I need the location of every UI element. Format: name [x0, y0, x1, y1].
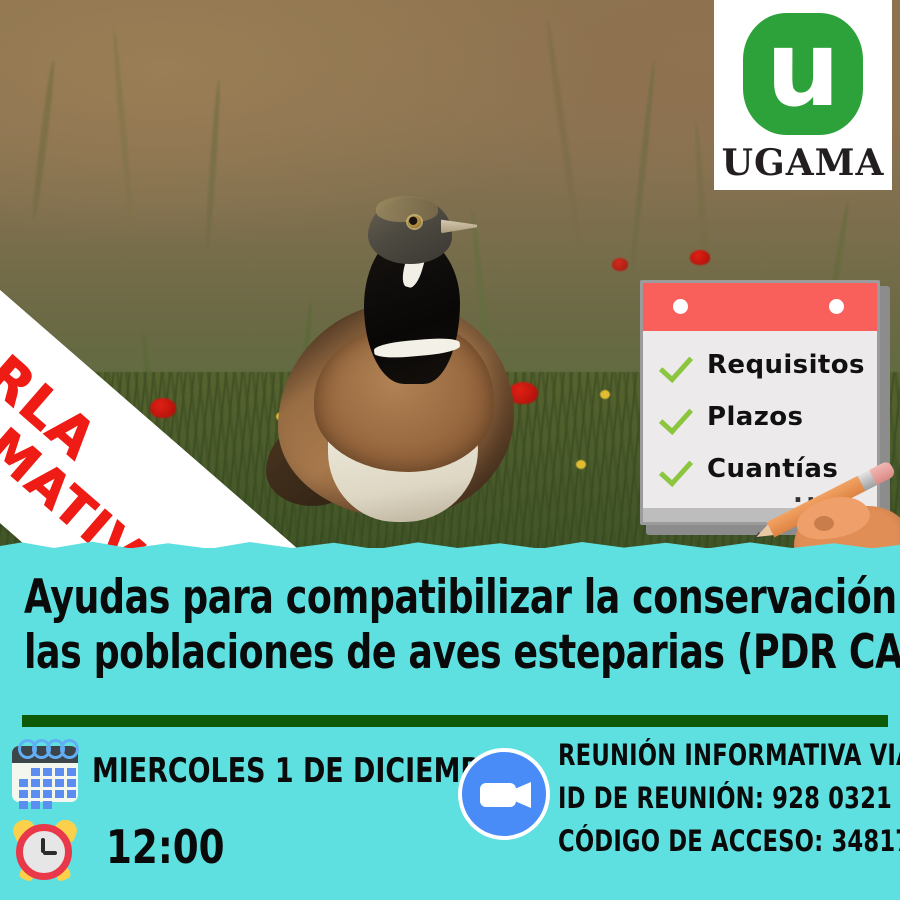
checklist-rows: Requisitos Plazos Cuantías: [643, 335, 877, 495]
ugama-mark-icon: u: [743, 13, 863, 135]
yellow-flower: [600, 390, 610, 399]
event-date-row: MIERCOLES 1 DE DICIEMBRE: [8, 738, 463, 804]
meeting-heading: REUNIÓN INFORMATIVA VIA ZOOM: [558, 738, 900, 772]
meeting-details: REUNIÓN INFORMATIVA VIA ZOOM ID DE REUNI…: [460, 734, 900, 867]
alarm-clock-icon: [8, 812, 82, 882]
event-details: MIERCOLES 1 DE DICIEMBRE 12:00: [8, 738, 463, 890]
title-line-2: las poblaciones de aves esteparias (PDR …: [24, 625, 760, 680]
bird-beak: [441, 218, 477, 234]
zoom-icon: [458, 748, 550, 840]
hand-knuckle: [814, 516, 834, 531]
bird-eye: [408, 216, 421, 228]
ugama-logo: u UGAMA: [714, 0, 892, 190]
title-line-1: Ayudas para compatibilizar la conservaci…: [24, 570, 760, 625]
ugama-mark-letter: u: [743, 13, 863, 135]
event-date: MIERCOLES 1 DE DICIEMBRE: [92, 751, 520, 791]
checklist-item-label: Plazos: [707, 402, 803, 432]
poppy-flower: [150, 398, 176, 418]
poppy-flower: [690, 250, 710, 265]
checklist-hole-icon: [673, 299, 688, 314]
list-item: Requisitos: [643, 339, 877, 391]
poppy-flower: [612, 258, 628, 271]
meeting-id: ID DE REUNIÓN: 928 0321 5957: [558, 781, 900, 815]
checklist-hole-icon: [829, 299, 844, 314]
poster: CHARLA INFORMATIVA u UGAMA Requisitos: [0, 0, 900, 900]
ugama-wordmark: UGAMA: [714, 142, 892, 184]
little-bustard-bird: [268, 182, 568, 544]
checklist-header: [643, 283, 877, 331]
yellow-flower: [576, 460, 586, 469]
checklist-item-label: Requisitos: [707, 350, 865, 380]
divider: [22, 715, 888, 727]
page-title: Ayudas para compatibilizar la conservaci…: [24, 570, 760, 681]
calendar-icon: [8, 738, 82, 804]
check-icon: [659, 348, 693, 382]
event-time: 12:00: [106, 820, 225, 874]
meeting-passcode: CÓDIGO DE ACCESO: 348179: [558, 824, 900, 858]
list-item: Plazos: [643, 391, 877, 443]
check-icon: [659, 452, 693, 486]
bird-crown: [376, 196, 438, 222]
check-icon: [659, 400, 693, 434]
event-time-row: 12:00: [8, 812, 463, 882]
info-panel: Ayudas para compatibilizar la conservaci…: [0, 548, 900, 900]
